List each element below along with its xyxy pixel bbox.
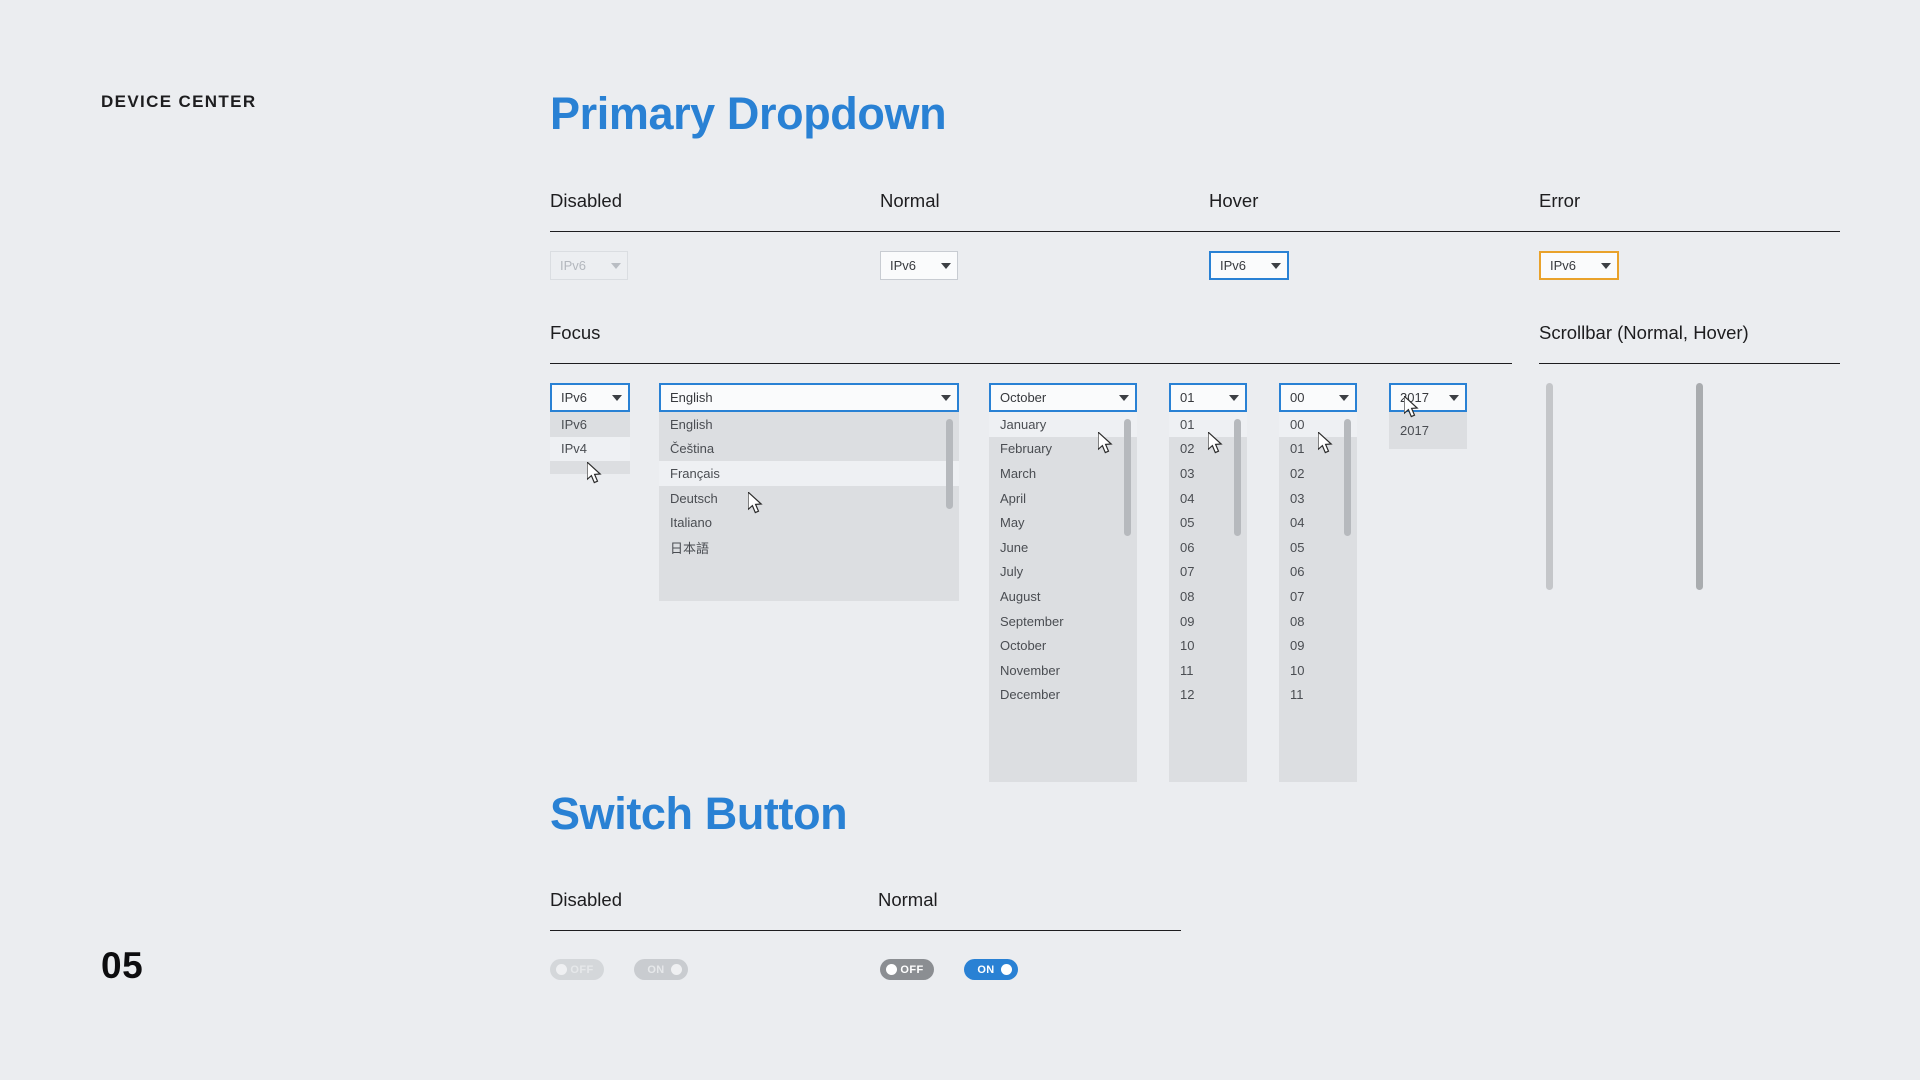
chevron-down-icon <box>1339 395 1349 401</box>
dropdown-error-value: IPv6 <box>1550 258 1595 273</box>
column-header-scrollbar: Scrollbar (Normal, Hover) <box>1539 322 1749 344</box>
list-item[interactable]: 08 <box>1279 609 1357 634</box>
list-item[interactable]: 09 <box>1279 633 1357 658</box>
list-item[interactable]: July <box>989 560 1137 585</box>
dropdown-error[interactable]: IPv6 <box>1539 251 1619 280</box>
dropdown-hover[interactable]: IPv6 <box>1209 251 1289 280</box>
list-item[interactable]: 07 <box>1169 560 1247 585</box>
list-item[interactable]: 日本語 <box>659 535 959 560</box>
dropdown-disabled-value: IPv6 <box>560 258 605 273</box>
scrollbar-thumb[interactable] <box>1344 419 1351 536</box>
list-item[interactable]: IPv4 <box>550 437 630 462</box>
divider-focus <box>550 363 1512 364</box>
switch-column-header-normal: Normal <box>878 889 938 911</box>
column-header-hover: Hover <box>1209 190 1258 212</box>
chevron-down-icon <box>611 263 621 269</box>
dropdown-list-ip-version[interactable]: IPv6 IPv4 <box>550 412 630 474</box>
dropdown-month[interactable]: October <box>989 383 1137 412</box>
divider-dropdown-states <box>550 231 1840 232</box>
chevron-down-icon <box>1449 395 1459 401</box>
switch-disabled-on: ON <box>634 959 688 980</box>
list-item[interactable]: Français <box>659 461 959 486</box>
switch-label: OFF <box>567 964 597 976</box>
list-item[interactable]: February <box>989 437 1137 462</box>
dropdown-normal[interactable]: IPv6 <box>880 251 958 280</box>
dropdown-ip-version-value: IPv6 <box>561 390 606 405</box>
dropdown-list-hour[interactable]: 00 01 02 03 04 05 06 07 08 09 10 11 <box>1279 412 1357 782</box>
dropdown-day[interactable]: 01 <box>1169 383 1247 412</box>
list-item[interactable]: 11 <box>1169 658 1247 683</box>
divider-scrollbar <box>1539 363 1840 364</box>
list-item[interactable]: April <box>989 486 1137 511</box>
switch-knob <box>556 964 567 975</box>
dropdown-list-year[interactable]: 2017 <box>1389 412 1467 449</box>
section-title-switch: Switch Button <box>550 788 847 840</box>
list-item[interactable]: 07 <box>1279 584 1357 609</box>
column-header-focus: Focus <box>550 322 600 344</box>
list-item[interactable]: 08 <box>1169 584 1247 609</box>
dropdown-language[interactable]: English <box>659 383 959 412</box>
list-item[interactable]: August <box>989 584 1137 609</box>
list-item[interactable]: 09 <box>1169 609 1247 634</box>
dropdown-list-language[interactable]: English Čeština Français Deutsch Italian… <box>659 412 959 601</box>
switch-disabled-off: OFF <box>550 959 604 980</box>
switch-label: ON <box>971 964 1001 976</box>
switch-label: OFF <box>897 964 927 976</box>
list-item[interactable]: 05 <box>1279 535 1357 560</box>
dropdown-year[interactable]: 2017 <box>1389 383 1467 412</box>
chevron-down-icon <box>1271 263 1281 269</box>
chevron-down-icon <box>941 263 951 269</box>
chevron-down-icon <box>1229 395 1239 401</box>
list-item[interactable]: 10 <box>1169 633 1247 658</box>
scrollbar-thumb[interactable] <box>1234 419 1241 536</box>
list-item[interactable]: June <box>989 535 1137 560</box>
dropdown-list-month[interactable]: January February March April May June Ju… <box>989 412 1137 782</box>
dropdown-hour-value: 00 <box>1290 390 1333 405</box>
switch-label: ON <box>641 964 671 976</box>
list-item[interactable]: IPv6 <box>550 412 630 437</box>
dropdown-hour[interactable]: 00 <box>1279 383 1357 412</box>
list-item[interactable]: 06 <box>1279 560 1357 585</box>
brand-label: DEVICE CENTER <box>101 92 256 112</box>
page-number: 05 <box>101 945 143 987</box>
scrollbar-thumb[interactable] <box>1124 419 1131 536</box>
dropdown-hover-value: IPv6 <box>1220 258 1265 273</box>
list-item[interactable]: 2017 <box>1389 412 1467 449</box>
chevron-down-icon <box>1119 395 1129 401</box>
chevron-down-icon <box>612 395 622 401</box>
dropdown-disabled: IPv6 <box>550 251 628 280</box>
column-header-disabled: Disabled <box>550 190 622 212</box>
section-title-dropdown: Primary Dropdown <box>550 88 946 140</box>
list-item[interactable]: Italiano <box>659 510 959 535</box>
list-item[interactable]: 12 <box>1169 683 1247 708</box>
slide-canvas: DEVICE CENTER 05 Primary Dropdown Disabl… <box>0 0 1920 1080</box>
column-header-normal: Normal <box>880 190 940 212</box>
switch-knob <box>1001 964 1012 975</box>
dropdown-day-value: 01 <box>1180 390 1223 405</box>
list-item[interactable]: January <box>989 412 1137 437</box>
dropdown-list-day[interactable]: 01 02 03 04 05 06 07 08 09 10 11 12 <box>1169 412 1247 782</box>
dropdown-month-value: October <box>1000 390 1113 405</box>
list-item[interactable]: 06 <box>1169 535 1247 560</box>
column-header-error: Error <box>1539 190 1580 212</box>
switch-normal-off[interactable]: OFF <box>880 959 934 980</box>
scrollbar-thumb[interactable] <box>946 419 953 509</box>
list-item[interactable]: May <box>989 510 1137 535</box>
list-item[interactable]: November <box>989 658 1137 683</box>
list-item[interactable]: 10 <box>1279 658 1357 683</box>
list-item[interactable]: October <box>989 633 1137 658</box>
dropdown-year-value: 2017 <box>1400 390 1443 405</box>
list-item[interactable]: Čeština <box>659 437 959 462</box>
list-item[interactable]: Deutsch <box>659 486 959 511</box>
list-item[interactable]: December <box>989 683 1137 708</box>
dropdown-ip-version[interactable]: IPv6 <box>550 383 630 412</box>
dropdown-normal-value: IPv6 <box>890 258 935 273</box>
scrollbar-thumb-normal[interactable] <box>1546 383 1553 590</box>
list-item[interactable]: 11 <box>1279 683 1357 708</box>
dropdown-language-value: English <box>670 390 935 405</box>
list-item[interactable]: September <box>989 609 1137 634</box>
divider-switch-states <box>550 930 1181 931</box>
switch-column-header-disabled: Disabled <box>550 889 622 911</box>
switch-knob <box>886 964 897 975</box>
switch-knob <box>671 964 682 975</box>
switch-normal-on[interactable]: ON <box>964 959 1018 980</box>
chevron-down-icon <box>941 395 951 401</box>
list-item[interactable]: March <box>989 461 1137 486</box>
scrollbar-thumb-hover[interactable] <box>1696 383 1703 590</box>
list-item[interactable]: English <box>659 412 959 437</box>
chevron-down-icon <box>1601 263 1611 269</box>
